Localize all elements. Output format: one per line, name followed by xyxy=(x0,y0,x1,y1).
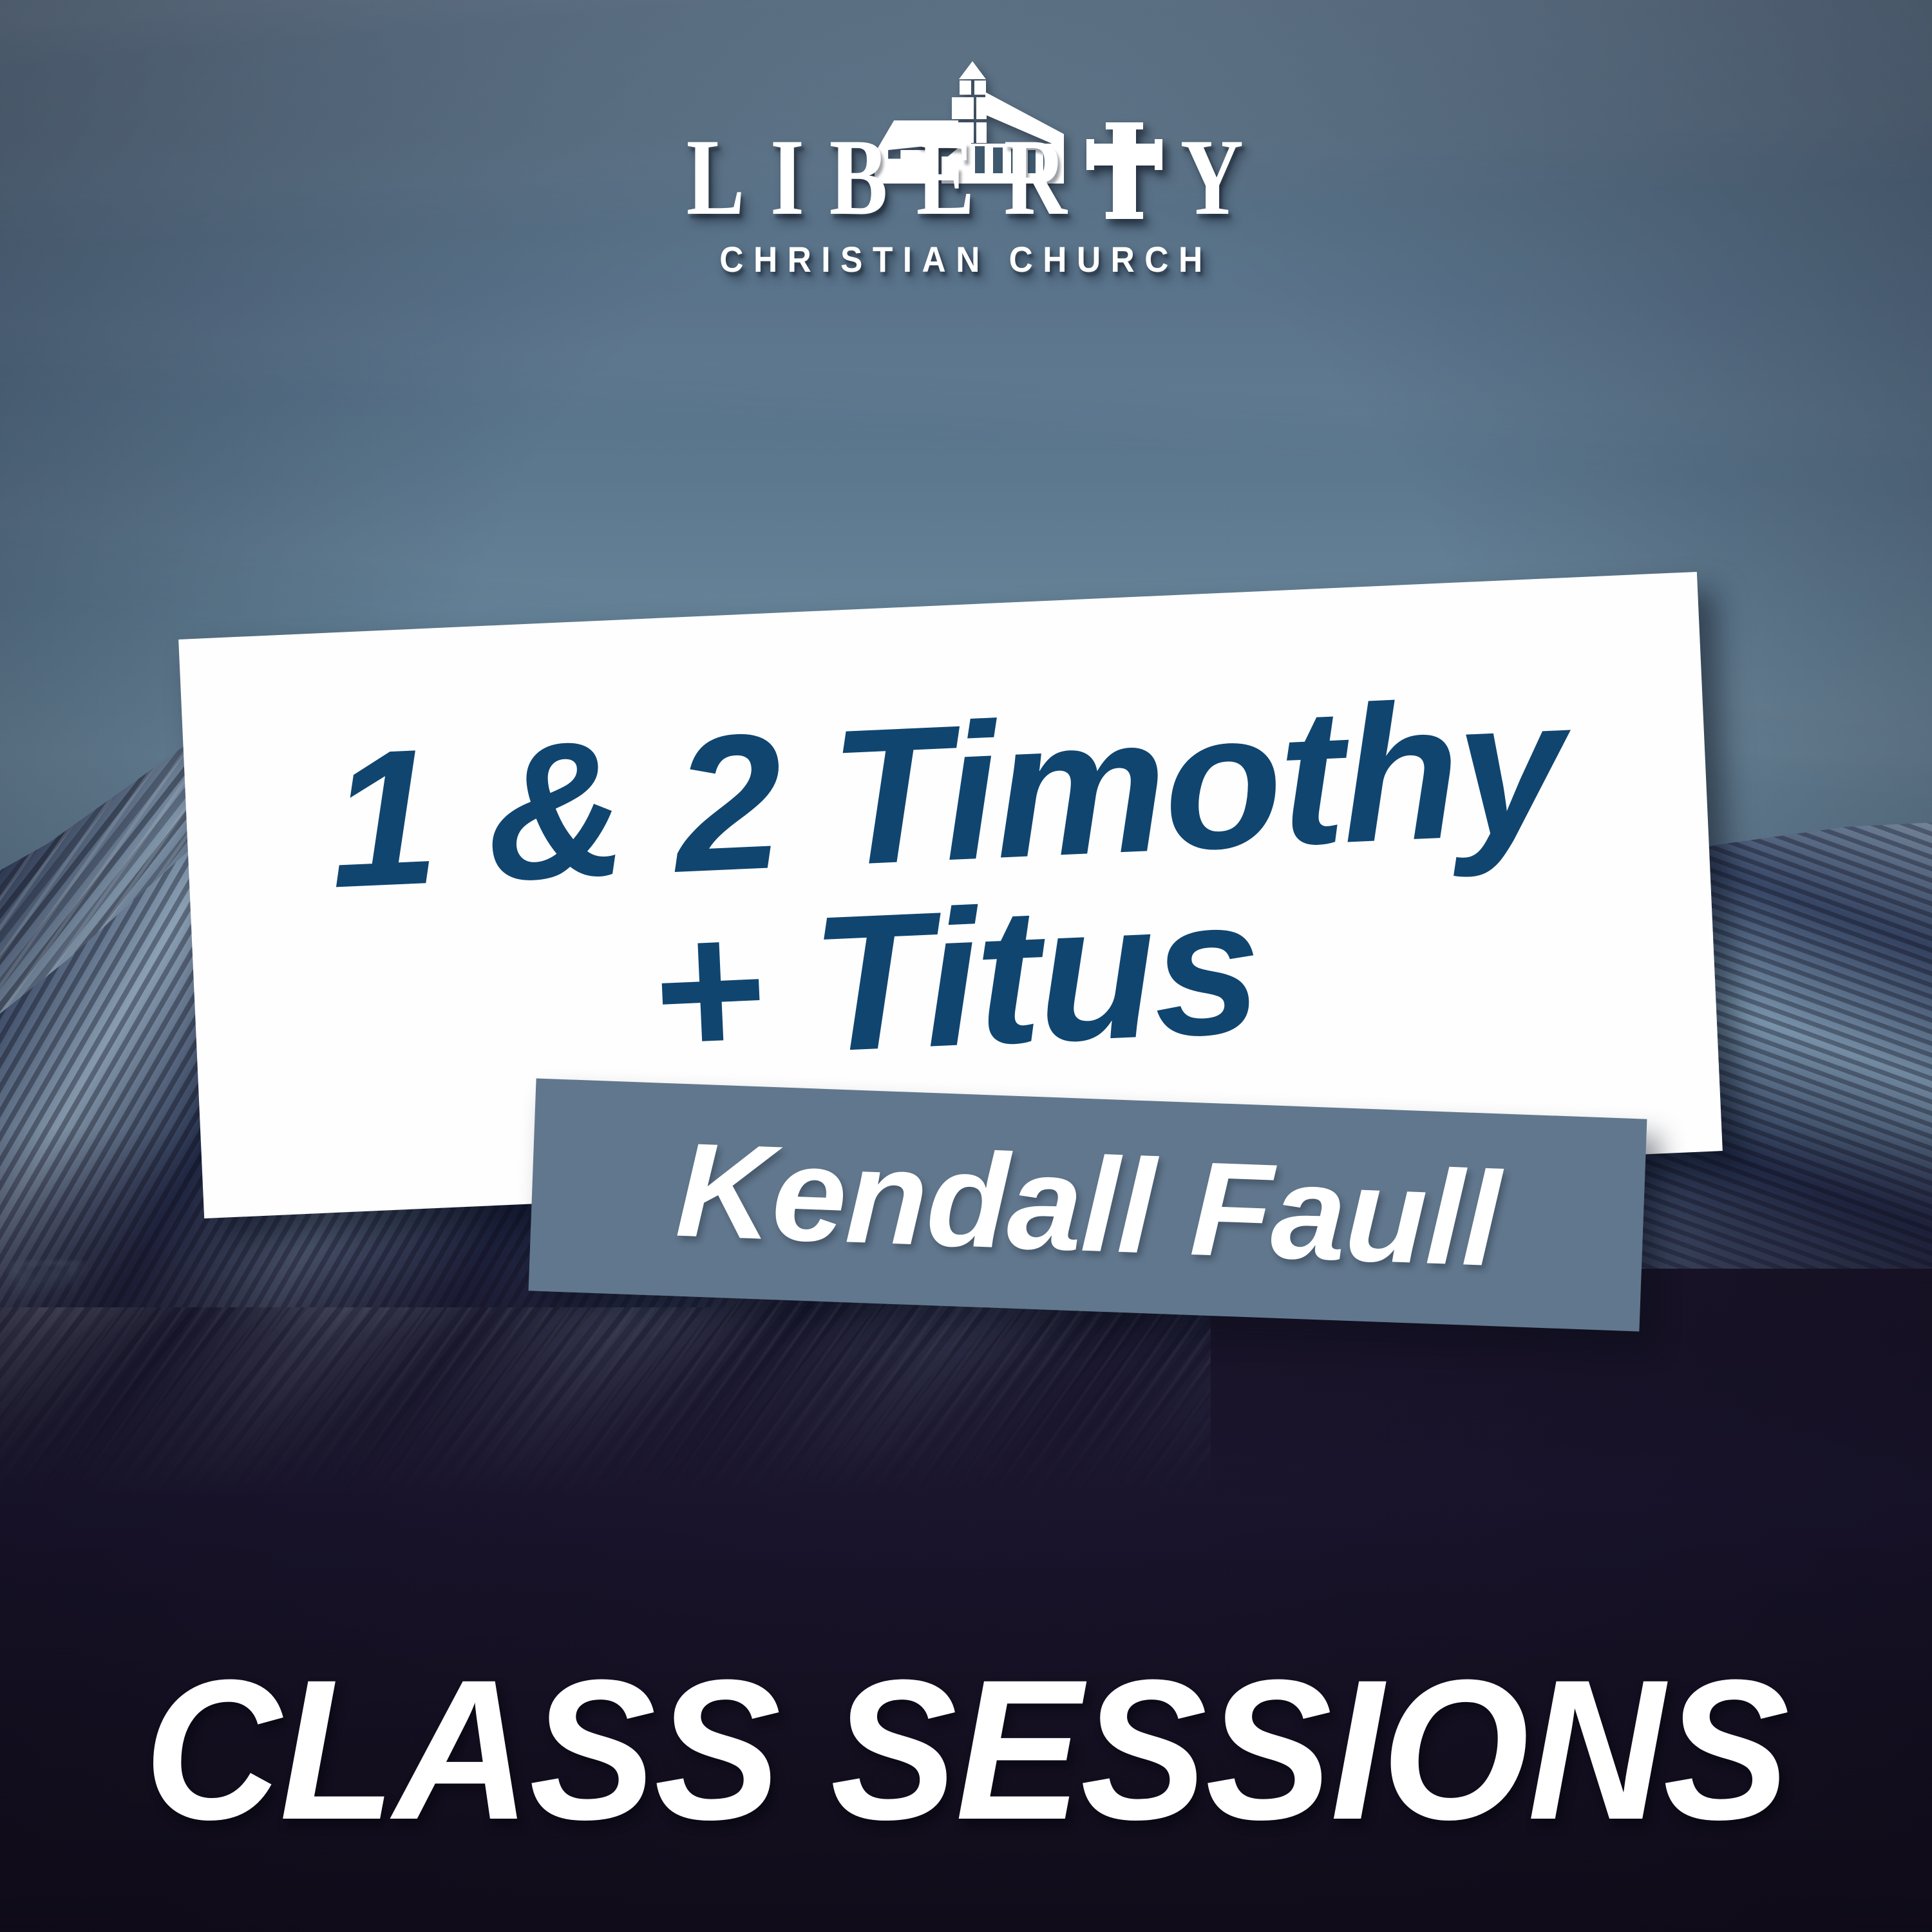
wordmark-letter-L: L xyxy=(687,130,746,224)
wordmark-letter-Y: Y xyxy=(1180,130,1245,224)
cross-icon xyxy=(1086,122,1162,219)
footer-headline: CLASS SESSIONS xyxy=(48,1650,1884,1850)
liberty-wordmark: L I B E R Y xyxy=(673,122,1259,224)
cover-art-canvas: L I B E R Y CHRISTIAN CHURCH 1 & 2 Timot… xyxy=(0,0,1932,1932)
church-logo: L I B E R Y CHRISTIAN CHURCH xyxy=(0,61,1932,280)
wordmark-letter-E: E xyxy=(916,130,976,224)
church-building-icon xyxy=(869,61,1063,94)
speaker-name: Kendall Faull xyxy=(674,1123,1502,1287)
wordmark-letter-R: R xyxy=(1003,130,1068,224)
wordmark-letter-I: I xyxy=(770,130,806,224)
logo-subtitle: CHRISTIAN CHURCH xyxy=(719,238,1212,280)
speaker-banner: Kendall Faull xyxy=(529,1078,1647,1331)
wordmark-letter-B: B xyxy=(829,130,889,224)
series-title-line-2: + Titus xyxy=(647,874,1262,1083)
